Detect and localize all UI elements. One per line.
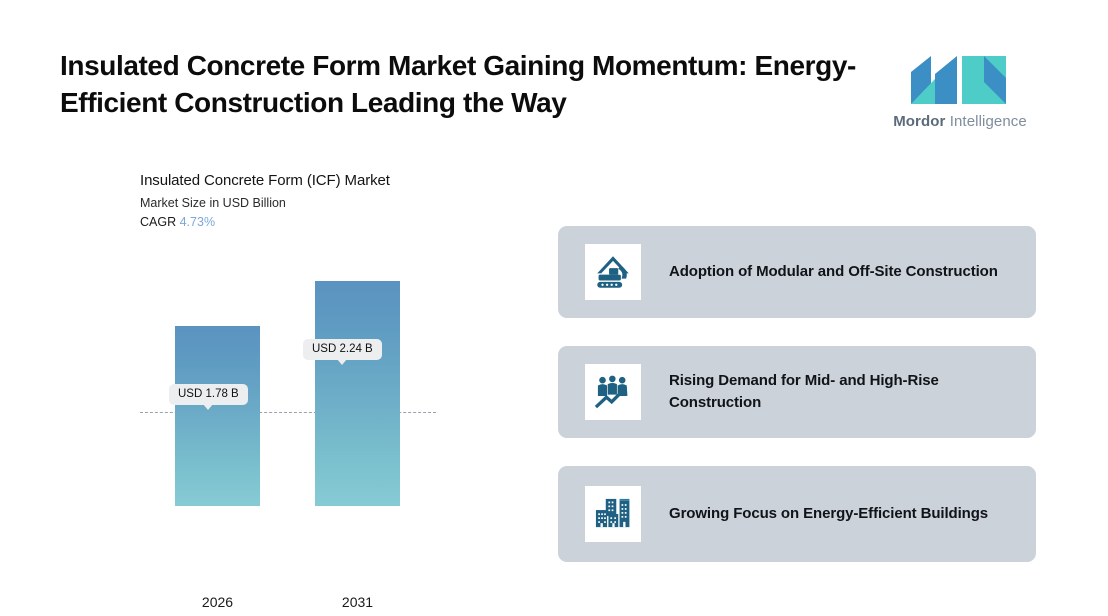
driver-card-high-rise-demand[interactable]: Rising Demand for Mid- and High-Rise Con… xyxy=(558,346,1036,438)
bar-chart-plot: USD 1.78 B USD 2.24 B 2026 2031 Source :… xyxy=(140,254,440,506)
x-axis-labels: 2026 2031 xyxy=(140,594,440,616)
x-tick-2031: 2031 xyxy=(315,594,400,610)
brand-logo: Mordor Intelligence xyxy=(890,52,1030,138)
people-growth-arrow-icon xyxy=(585,364,641,420)
chart-cagr: CAGR 4.73% xyxy=(140,215,460,229)
buildings-glyph-icon xyxy=(592,493,634,535)
bar-value-label-2031: USD 2.24 B xyxy=(303,339,382,360)
driver-cards: Adoption of Modular and Off-Site Constru… xyxy=(558,226,1036,590)
chart-panel: Insulated Concrete Form (ICF) Market Mar… xyxy=(140,172,460,562)
chart-title: Insulated Concrete Form (ICF) Market xyxy=(140,172,460,189)
mordor-intelligence-mark-icon xyxy=(905,52,1015,108)
buildings-icon xyxy=(585,486,641,542)
driver-card-modular-construction[interactable]: Adoption of Modular and Off-Site Constru… xyxy=(558,226,1036,318)
bar-2031 xyxy=(315,281,400,506)
cagr-label: CAGR xyxy=(140,215,176,229)
infographic-root: Insulated Concrete Form Market Gaining M… xyxy=(0,0,1108,616)
driver-card-text: Adoption of Modular and Off-Site Constru… xyxy=(669,261,998,283)
page-title: Insulated Concrete Form Market Gaining M… xyxy=(60,48,860,122)
excavator-icon xyxy=(585,244,641,300)
bar-value-label-2026: USD 1.78 B xyxy=(169,384,248,405)
driver-card-text: Rising Demand for Mid- and High-Rise Con… xyxy=(669,370,1014,414)
driver-card-text: Growing Focus on Energy-Efficient Buildi… xyxy=(669,503,988,525)
brand-word-light: Intelligence xyxy=(945,113,1026,130)
x-tick-2026: 2026 xyxy=(175,594,260,610)
cagr-value: 4.73% xyxy=(180,215,215,229)
bar-2026 xyxy=(175,326,260,506)
brand-word-bold: Mordor xyxy=(893,113,945,130)
people-growth-arrow-glyph-icon xyxy=(592,371,634,413)
chart-subtitle: Market Size in USD Billion xyxy=(140,196,460,210)
driver-card-energy-efficient-buildings[interactable]: Growing Focus on Energy-Efficient Buildi… xyxy=(558,466,1036,562)
brand-wordmark: Mordor Intelligence xyxy=(893,113,1027,130)
excavator-glyph-icon xyxy=(592,251,634,293)
